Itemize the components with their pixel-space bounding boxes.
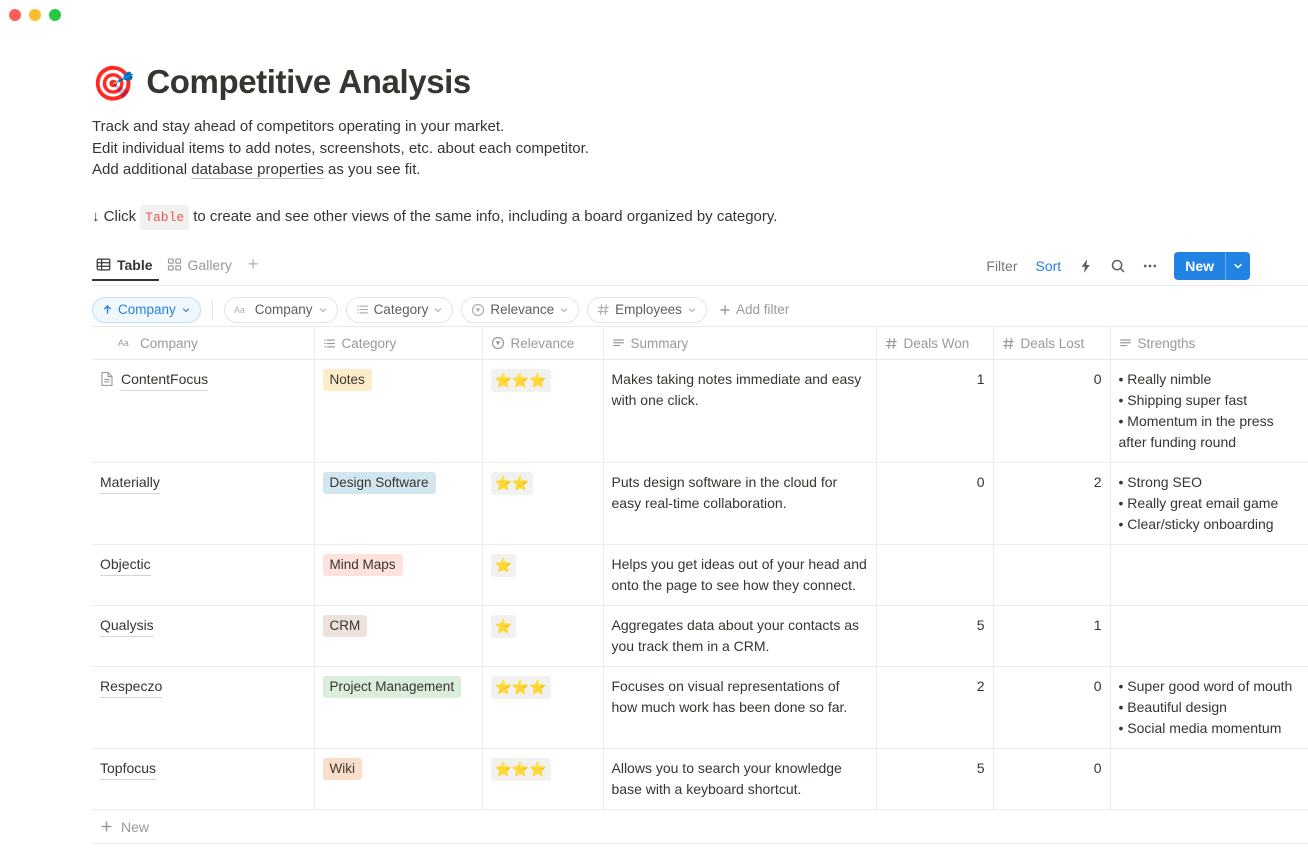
table-row[interactable]: ContentFocusNotes⭐⭐⭐Makes taking notes i… [92, 360, 1308, 463]
ellipsis-icon[interactable] [1136, 253, 1164, 279]
cell-category[interactable]: Design Software [314, 463, 482, 545]
column-header-deals-lost-label: Deals Lost [1021, 336, 1085, 351]
category-tag: Mind Maps [323, 554, 403, 576]
strength-item: • Really nimble [1119, 369, 1301, 390]
company-name[interactable]: Objectic [100, 554, 151, 576]
cell-company[interactable]: Topfocus [92, 749, 314, 810]
page-header: 🎯 Competitive Analysis [92, 62, 1308, 102]
table-body: ContentFocusNotes⭐⭐⭐Makes taking notes i… [92, 360, 1308, 810]
table-row[interactable]: ObjecticMind Maps⭐Helps you get ideas ou… [92, 545, 1308, 606]
new-button[interactable]: New [1174, 252, 1250, 280]
arrow-up-icon [102, 304, 113, 315]
column-header-category-label: Category [342, 336, 397, 351]
status-property-icon [471, 303, 485, 317]
cell-relevance[interactable]: ⭐ [482, 545, 603, 606]
filter-chip-company[interactable]: Aa Company [224, 297, 338, 323]
strength-item: • Super good word of mouth [1119, 676, 1301, 697]
sort-chip-company[interactable]: Company [92, 297, 201, 323]
cell-company[interactable]: Qualysis [92, 606, 314, 667]
table-icon [96, 257, 111, 272]
cell-deals-won[interactable]: 2 [876, 667, 993, 749]
search-icon[interactable] [1104, 253, 1132, 279]
add-filter-button[interactable]: Add filter [715, 302, 793, 317]
close-window-button[interactable] [9, 9, 21, 21]
table-footer: Count 6 [92, 844, 1308, 849]
table-row[interactable]: MateriallyDesign Software⭐⭐Puts design s… [92, 463, 1308, 545]
cell-company[interactable]: Objectic [92, 545, 314, 606]
traffic-lights [9, 9, 61, 21]
lightning-icon[interactable] [1072, 253, 1100, 279]
text-lines-icon [612, 337, 625, 350]
select-property-icon [323, 337, 336, 350]
cell-strengths[interactable] [1110, 749, 1308, 810]
chevron-down-icon[interactable] [1226, 252, 1250, 280]
column-header-strengths[interactable]: Strengths [1110, 327, 1308, 360]
description-line-2: Edit individual items to add notes, scre… [92, 138, 1308, 160]
column-header-company-label: Company [140, 336, 198, 351]
description-line-1: Track and stay ahead of competitors oper… [92, 116, 1308, 138]
plus-icon [719, 304, 731, 316]
number-property-icon [885, 337, 898, 350]
description-link-prefix: Add additional [92, 161, 191, 178]
view-tabs: Table Gallery + [92, 251, 264, 285]
text-property-icon: Aa [234, 304, 250, 316]
company-name[interactable]: Topfocus [100, 758, 156, 780]
cell-summary[interactable]: Allows you to search your knowledge base… [603, 749, 876, 810]
relevance-stars: ⭐⭐⭐ [491, 758, 551, 781]
filter-chip-relevance-label: Relevance [490, 302, 554, 317]
column-header-category[interactable]: Category [314, 327, 482, 360]
text-property-icon: Aa [118, 337, 134, 349]
strength-item: • Momentum in the press after funding ro… [1119, 411, 1301, 453]
database-table: Aa Company Categ [92, 326, 1308, 810]
relevance-stars: ⭐⭐⭐ [491, 676, 551, 699]
cell-strengths[interactable] [1110, 606, 1308, 667]
column-header-summary-label: Summary [631, 336, 689, 351]
company-name[interactable]: Materially [100, 472, 160, 494]
cell-company[interactable]: Materially [92, 463, 314, 545]
column-header-deals-won-label: Deals Won [904, 336, 970, 351]
column-header-deals-won[interactable]: Deals Won [876, 327, 993, 360]
cell-company[interactable]: ContentFocus [92, 360, 314, 463]
filter-button[interactable]: Filter [979, 254, 1024, 278]
new-row-label: New [121, 819, 149, 835]
sort-button[interactable]: Sort [1029, 254, 1069, 278]
text-lines-icon [1119, 337, 1132, 350]
filter-chip-category[interactable]: Category [346, 297, 454, 323]
cell-deals-won[interactable]: 1 [876, 360, 993, 463]
chip-divider [212, 300, 213, 320]
chevron-down-icon [318, 305, 328, 315]
strength-item: • Clear/sticky onboarding [1119, 514, 1301, 535]
relevance-stars: ⭐⭐ [491, 472, 534, 495]
chevron-down-icon [687, 305, 697, 315]
cell-summary[interactable]: Focuses on visual representations of how… [603, 667, 876, 749]
svg-text:Aa: Aa [234, 305, 245, 315]
relevance-stars: ⭐ [491, 554, 516, 577]
cell-category[interactable]: Notes [314, 360, 482, 463]
page-document-icon [100, 371, 114, 387]
table-row[interactable]: QualysisCRM⭐Aggregates data about your c… [92, 606, 1308, 667]
cell-summary[interactable]: Aggregates data about your contacts as y… [603, 606, 876, 667]
number-property-icon [1002, 337, 1015, 350]
strength-item: • Beautiful design [1119, 697, 1301, 718]
view-bar: Table Gallery + Filter Sort [92, 252, 1308, 286]
callout-code-table: Table [140, 205, 189, 231]
cell-relevance[interactable]: ⭐⭐⭐ [482, 360, 603, 463]
add-view-button[interactable]: + [242, 255, 265, 281]
chevron-down-icon [433, 305, 443, 315]
callout-suffix: to create and see other views of the sam… [193, 206, 777, 228]
cell-deals-lost[interactable]: 0 [993, 360, 1110, 463]
cell-deals-won[interactable]: 0 [876, 463, 993, 545]
tab-gallery[interactable]: Gallery [163, 257, 238, 280]
cell-deals-lost[interactable] [993, 545, 1110, 606]
gallery-icon [167, 257, 182, 272]
cell-deals-lost[interactable]: 1 [993, 606, 1110, 667]
zoom-window-button[interactable] [49, 9, 61, 21]
cell-deals-lost[interactable]: 2 [993, 463, 1110, 545]
company-name[interactable]: ContentFocus [121, 369, 208, 391]
cell-deals-won[interactable]: 5 [876, 606, 993, 667]
relevance-stars: ⭐⭐⭐ [491, 369, 551, 392]
window-titlebar [0, 0, 1308, 30]
cell-strengths[interactable]: • Strong SEO• Really great email game• C… [1110, 463, 1308, 545]
category-tag: CRM [323, 615, 368, 637]
cell-relevance[interactable]: ⭐⭐ [482, 463, 603, 545]
cell-category[interactable]: CRM [314, 606, 482, 667]
table-row[interactable]: RespeczoProject Management⭐⭐⭐Focuses on … [92, 667, 1308, 749]
cell-strengths[interactable] [1110, 545, 1308, 606]
filter-chip-company-label: Company [255, 302, 313, 317]
page-title[interactable]: Competitive Analysis [146, 62, 471, 102]
table-row[interactable]: TopfocusWiki⭐⭐⭐Allows you to search your… [92, 749, 1308, 810]
sort-chip-label: Company [118, 302, 176, 317]
column-header-summary[interactable]: Summary [603, 327, 876, 360]
select-property-icon [356, 303, 369, 316]
relevance-stars: ⭐ [491, 615, 516, 638]
page-content: 🎯 Competitive Analysis Track and stay ah… [0, 62, 1308, 849]
callout-prefix: ↓ Click [92, 206, 136, 228]
new-button-label: New [1174, 252, 1225, 280]
cell-strengths[interactable]: • Super good word of mouth• Beautiful de… [1110, 667, 1308, 749]
description-line-3: Add additional database properties as yo… [92, 159, 1308, 181]
cell-summary[interactable]: Makes taking notes immediate and easy wi… [603, 360, 876, 463]
svg-text:Aa: Aa [118, 338, 129, 348]
category-tag: Project Management [323, 676, 462, 698]
filter-chip-employees[interactable]: Employees [587, 297, 707, 323]
new-row-button[interactable]: New [92, 810, 1308, 844]
column-header-strengths-label: Strengths [1138, 336, 1196, 351]
tab-gallery-label: Gallery [188, 257, 232, 273]
add-filter-label: Add filter [736, 302, 789, 317]
category-tag: Notes [323, 369, 372, 391]
minimize-window-button[interactable] [29, 9, 41, 21]
column-header-deals-lost[interactable]: Deals Lost [993, 327, 1110, 360]
column-header-relevance-label: Relevance [511, 336, 575, 351]
tab-table-label: Table [117, 257, 153, 273]
cell-relevance[interactable]: ⭐ [482, 606, 603, 667]
strength-item: • Shipping super fast [1119, 390, 1301, 411]
table-header-row: Aa Company Categ [92, 327, 1308, 360]
filter-chip-relevance[interactable]: Relevance [461, 297, 579, 323]
strength-item: • Really great email game [1119, 493, 1301, 514]
number-property-icon [597, 303, 610, 316]
category-tag: Wiki [323, 758, 363, 780]
filter-chip-employees-label: Employees [615, 302, 682, 317]
cell-category[interactable]: Mind Maps [314, 545, 482, 606]
cell-deals-lost[interactable]: 0 [993, 667, 1110, 749]
filter-chip-bar: Company Aa Company Category [92, 286, 1308, 326]
description-link-suffix: as you see fit. [324, 161, 421, 178]
cell-summary[interactable]: Helps you get ideas out of your head and… [603, 545, 876, 606]
cell-deals-won[interactable]: 5 [876, 749, 993, 810]
chevron-down-icon [559, 305, 569, 315]
chevron-down-icon [181, 305, 191, 315]
cell-relevance[interactable]: ⭐⭐⭐ [482, 667, 603, 749]
dart-target-icon[interactable]: 🎯 [92, 67, 134, 101]
strength-item: • Strong SEO [1119, 472, 1301, 493]
cell-relevance[interactable]: ⭐⭐⭐ [482, 749, 603, 810]
column-header-relevance[interactable]: Relevance [482, 327, 603, 360]
cell-category[interactable]: Project Management [314, 667, 482, 749]
company-name[interactable]: Qualysis [100, 615, 154, 637]
company-name[interactable]: Respeczo [100, 676, 162, 698]
strength-item: • Social media momentum [1119, 718, 1301, 739]
column-header-company[interactable]: Aa Company [92, 327, 314, 360]
cell-deals-won[interactable] [876, 545, 993, 606]
status-property-icon [491, 336, 505, 350]
plus-icon [100, 820, 113, 833]
cell-strengths[interactable]: • Really nimble• Shipping super fast• Mo… [1110, 360, 1308, 463]
page-description: Track and stay ahead of competitors oper… [92, 116, 1308, 181]
cell-summary[interactable]: Puts design software in the cloud for ea… [603, 463, 876, 545]
cell-company[interactable]: Respeczo [92, 667, 314, 749]
callout-text: ↓ Click Table to create and see other vi… [92, 205, 1308, 231]
category-tag: Design Software [323, 472, 436, 494]
cell-deals-lost[interactable]: 0 [993, 749, 1110, 810]
database-properties-link[interactable]: database properties [191, 161, 324, 179]
view-actions: Filter Sort New [979, 252, 1250, 285]
filter-chip-category-label: Category [374, 302, 429, 317]
cell-category[interactable]: Wiki [314, 749, 482, 810]
tab-table[interactable]: Table [92, 257, 159, 280]
